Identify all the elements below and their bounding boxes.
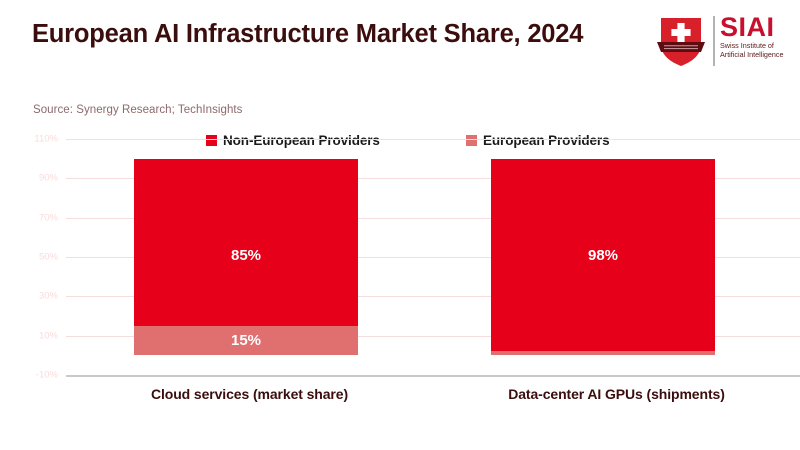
bar-value-label: 85% <box>134 247 358 264</box>
stacked-bar[interactable]: 2%98% <box>491 139 715 375</box>
y-axis-tick-label: 70% <box>39 212 58 223</box>
y-axis-tick-label: 50% <box>39 252 58 263</box>
bar-value-label: 98% <box>491 247 715 264</box>
y-axis-tick-label: 10% <box>39 330 58 341</box>
y-axis-tick-label: 110% <box>34 134 58 145</box>
bar-segment[interactable] <box>134 159 358 326</box>
x-axis-category-label: Cloud services (market share) <box>66 386 433 402</box>
y-axis-tick-label: 90% <box>39 173 58 184</box>
x-axis-line <box>66 375 800 377</box>
y-axis-tick-label: 30% <box>39 291 58 302</box>
plot-area: -10%10%30%50%70%90%110% 15%85%2%98% Clou… <box>0 0 800 400</box>
stacked-bar[interactable]: 15%85% <box>134 139 358 375</box>
x-axis-category-label: Data-center AI GPUs (shipments) <box>433 386 800 402</box>
bar-segment[interactable] <box>491 351 715 355</box>
y-axis-tick-label: -10% <box>36 370 58 381</box>
bar-value-label: 15% <box>134 332 358 349</box>
slide-canvas: European AI Infrastructure Market Share,… <box>0 0 800 450</box>
